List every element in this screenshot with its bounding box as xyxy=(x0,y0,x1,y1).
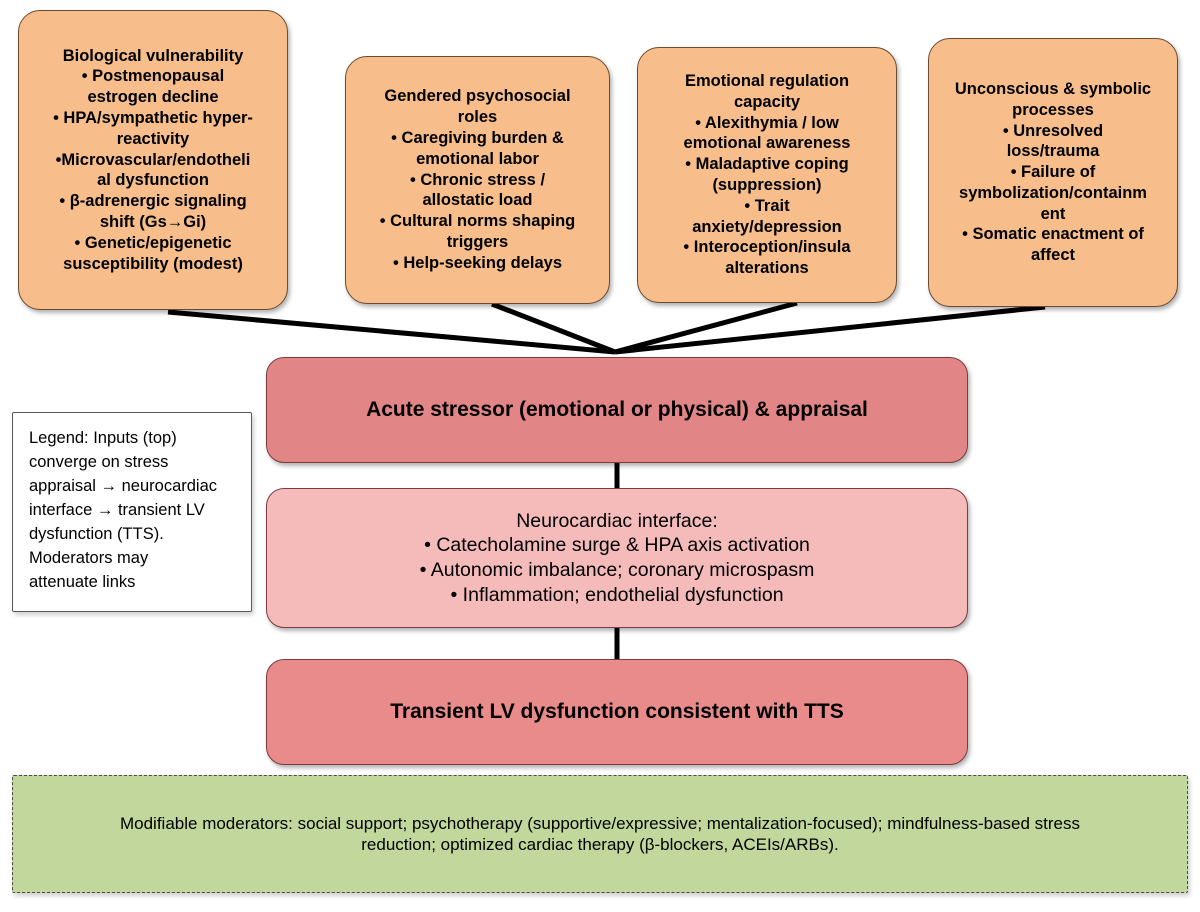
text-line: triggers xyxy=(354,232,601,253)
transient-lv-dysfunction-label: Transient LV dysfunction consistent with… xyxy=(390,699,843,725)
text-line: Biological vulnerability xyxy=(27,46,279,67)
text-line: interface → transient LV xyxy=(29,499,237,523)
legend-text: Legend: Inputs (top) converge on stress … xyxy=(29,427,237,594)
text-line: roles xyxy=(354,107,601,128)
text-line: • Cultural norms shaping xyxy=(354,211,601,232)
modifiable-moderators-node[interactable]: Modifiable moderators: social support; p… xyxy=(12,775,1188,893)
text-line: (suppression) xyxy=(646,175,888,196)
legend: Legend: Inputs (top) converge on stress … xyxy=(12,412,252,612)
connector-biological-to-stress xyxy=(168,312,615,352)
text-line: • Unresolved xyxy=(937,121,1169,142)
text-line: reactivity xyxy=(27,129,279,150)
text-line: Emotional regulation xyxy=(646,71,888,92)
text-line: • Inflammation; endothelial dysfunction xyxy=(281,583,953,608)
text-line: Neurocardiac interface: xyxy=(281,509,953,534)
connector-gendered-to-stress xyxy=(492,304,615,352)
text-line: alterations xyxy=(646,258,888,279)
input-box-biological-vulnerability[interactable]: Biological vulnerability • Postmenopausa… xyxy=(18,10,288,310)
transient-lv-dysfunction-node[interactable]: Transient LV dysfunction consistent with… xyxy=(266,659,968,765)
connector-unconscious-to-stress xyxy=(615,307,1045,352)
text-line: shift (Gs→Gi) xyxy=(27,212,279,233)
input-box-emotional-regulation-capacity[interactable]: Emotional regulation capacity • Alexithy… xyxy=(637,47,897,303)
text-line: • Help-seeking delays xyxy=(354,253,601,274)
text-line: • Caregiving burden & xyxy=(354,128,601,149)
input-box-gendered-psychosocial-roles-text: Gendered psychosocial roles • Caregiving… xyxy=(354,86,601,273)
text-line: susceptibility (modest) xyxy=(27,254,279,275)
text-line: • HPA/sympathetic hyper- xyxy=(27,108,279,129)
text-line: Legend: Inputs (top) xyxy=(29,427,237,451)
neurocardiac-interface-text: Neurocardiac interface: • Catecholamine … xyxy=(281,509,953,607)
text-line: • Postmenopausal xyxy=(27,66,279,87)
text-line: • β-adrenergic signaling xyxy=(27,191,279,212)
text-line: dysfunction (TTS). xyxy=(29,523,237,547)
text-line: Modifiable moderators: social support; p… xyxy=(49,813,1151,834)
text-line: • Maladaptive coping xyxy=(646,154,888,175)
text-line: capacity xyxy=(646,92,888,113)
input-box-unconscious-symbolic-processes[interactable]: Unconscious & symbolic processes • Unres… xyxy=(928,38,1178,307)
text-line: ent xyxy=(937,204,1169,225)
text-line: • Chronic stress / xyxy=(354,170,601,191)
diagram-canvas: Biological vulnerability • Postmenopausa… xyxy=(0,0,1200,912)
modifiable-moderators-text: Modifiable moderators: social support; p… xyxy=(49,813,1151,856)
text-line: Unconscious & symbolic xyxy=(937,79,1169,100)
neurocardiac-interface-node[interactable]: Neurocardiac interface: • Catecholamine … xyxy=(266,488,968,628)
text-line: loss/trauma xyxy=(937,141,1169,162)
text-line: • Interoception/insula xyxy=(646,237,888,258)
text-line: • Somatic enactment of xyxy=(937,224,1169,245)
text-line: al dysfunction xyxy=(27,170,279,191)
text-line: Gendered psychosocial xyxy=(354,86,601,107)
text-line: reduction; optimized cardiac therapy (β-… xyxy=(49,834,1151,855)
input-box-unconscious-symbolic-processes-text: Unconscious & symbolic processes • Unres… xyxy=(937,79,1169,266)
text-line: converge on stress xyxy=(29,451,237,475)
text-line: emotional awareness xyxy=(646,133,888,154)
text-line: Moderators may xyxy=(29,547,237,571)
text-line: emotional labor xyxy=(354,149,601,170)
text-line: symbolization/containm xyxy=(937,183,1169,204)
text-line: anxiety/depression xyxy=(646,217,888,238)
text-line: • Genetic/epigenetic xyxy=(27,233,279,254)
connector-emotional-to-stress xyxy=(615,303,797,352)
acute-stressor-label: Acute stressor (emotional or physical) &… xyxy=(366,397,868,423)
text-line: • Failure of xyxy=(937,162,1169,183)
text-line: allostatic load xyxy=(354,190,601,211)
input-box-emotional-regulation-capacity-text: Emotional regulation capacity • Alexithy… xyxy=(646,71,888,279)
text-line: • Trait xyxy=(646,196,888,217)
text-line: • Autonomic imbalance; coronary microspa… xyxy=(281,558,953,583)
text-line: appraisal → neurocardiac xyxy=(29,475,237,499)
text-line: •Microvascular/endotheli xyxy=(27,150,279,171)
text-line: • Alexithymia / low xyxy=(646,113,888,134)
input-box-biological-vulnerability-text: Biological vulnerability • Postmenopausa… xyxy=(27,46,279,275)
text-line: attenuate links xyxy=(29,571,237,595)
text-line: • Catecholamine surge & HPA axis activat… xyxy=(281,533,953,558)
text-line: processes xyxy=(937,100,1169,121)
text-line: estrogen decline xyxy=(27,87,279,108)
text-line: affect xyxy=(937,245,1169,266)
acute-stressor-node[interactable]: Acute stressor (emotional or physical) &… xyxy=(266,357,968,463)
input-box-gendered-psychosocial-roles[interactable]: Gendered psychosocial roles • Caregiving… xyxy=(345,56,610,304)
